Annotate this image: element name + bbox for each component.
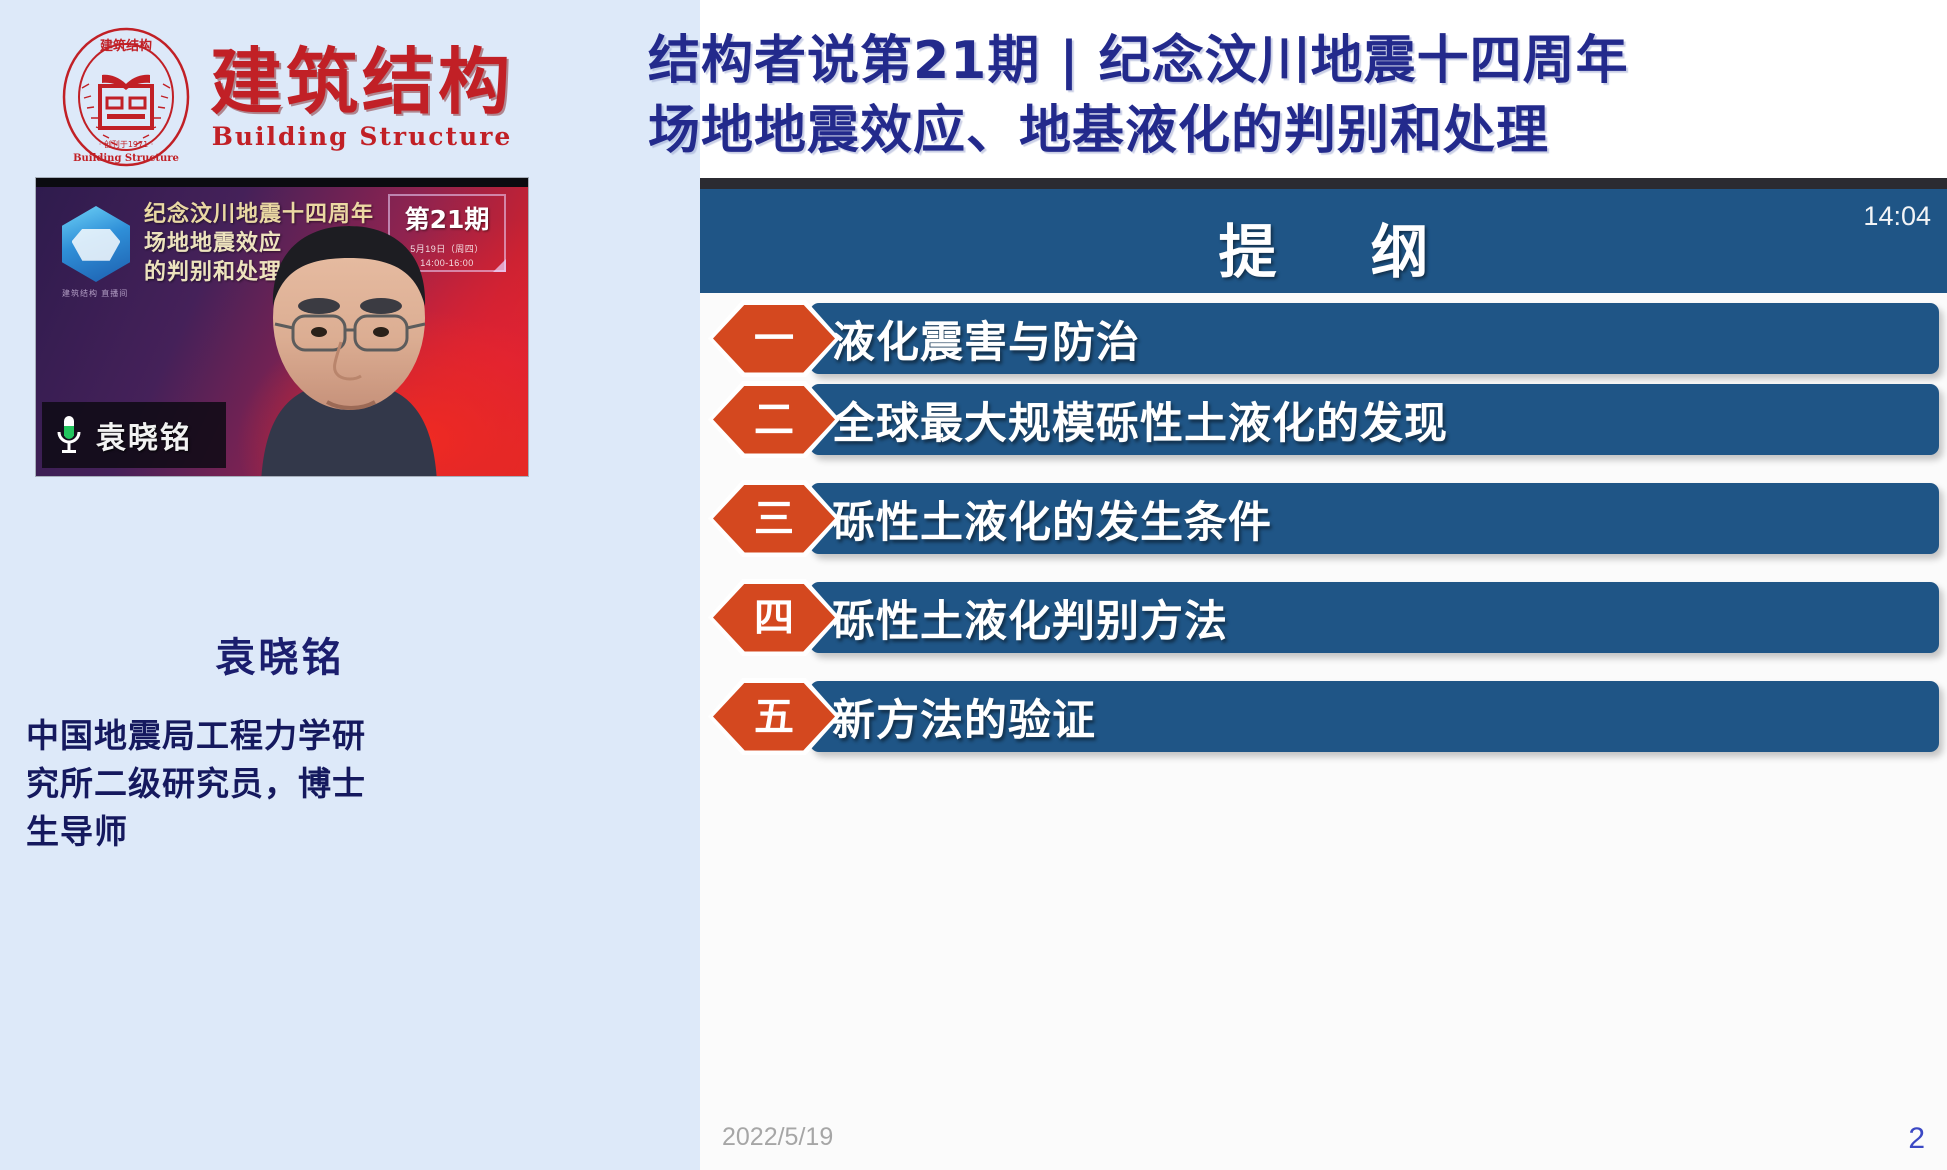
slide-footer-date: 2022/5/19 [722, 1123, 833, 1152]
participant-name-badge: 袁晓铭 [42, 402, 226, 468]
event-banner-logo-caption: 建筑结构 直播间 [62, 288, 158, 299]
outline-item-5-bar: 新方法的验证 [810, 681, 1939, 752]
speaker-bio-line2: 究所二级研究员，博士 [26, 760, 446, 808]
outline-item-3-number: 三 [754, 499, 794, 539]
outline-item-4-number: 四 [754, 598, 794, 638]
brand-name-en: Building Structure [212, 124, 513, 149]
outline-item-5-number: 五 [754, 697, 794, 737]
building-structure-seal-icon: 建筑结构 · 创刊于1971 · Building Structure [60, 26, 192, 168]
microphone-icon [54, 414, 84, 456]
page-title: 结构者说第21期 | 纪念汶川地震十四周年 场地地震效应、地基液化的判别和处理 [648, 26, 1938, 166]
speaker-bio-line1: 中国地震局工程力学研 [26, 712, 446, 760]
outline-item-2-label: 全球最大规模砾性土液化的发现 [810, 389, 1448, 451]
left-info-panel: 建筑结构 · 创刊于1971 · Building Structure 建筑结构… [0, 0, 700, 1170]
speaker-video-tile[interactable]: 建筑结构 直播间 纪念汶川地震十四周年 场地地震效应 的判别和处理 第21期 5… [36, 178, 528, 476]
outline-item-3-bar: 砾性土液化的发生条件 [810, 483, 1939, 554]
svg-text:建筑结构: 建筑结构 [100, 38, 152, 54]
outline-item-2-bar: 全球最大规模砾性土液化的发现 [810, 384, 1939, 455]
outline-item-5[interactable]: 新方法的验证 五 [700, 681, 1947, 752]
svg-text:Building Structure: Building Structure [73, 153, 179, 164]
outline-item-1[interactable]: 液化震害与防治 一 [700, 303, 1947, 374]
svg-text:· 创刊于1971 ·: · 创刊于1971 · [99, 139, 154, 149]
outline-item-1-number: 一 [754, 319, 794, 359]
outline-item-2[interactable]: 全球最大规模砾性土液化的发现 二 [700, 384, 1947, 455]
brand-header: 建筑结构 · 创刊于1971 · Building Structure 建筑结构… [60, 22, 660, 172]
screen-root: 建筑结构 · 创刊于1971 · Building Structure 建筑结构… [0, 0, 1947, 1170]
outline-item-2-number: 二 [754, 400, 794, 440]
presentation-slide[interactable]: 提 纲 14:04 液化震害与防治 一 全球最大规模砾性土液化的发现 [700, 178, 1947, 1170]
speaker-portrait [231, 210, 467, 476]
clock-overlay: 14:04 [1863, 201, 1931, 232]
event-banner-logo-icon: 建筑结构 直播间 [62, 206, 136, 290]
page-title-line2: 场地地震效应、地基液化的判别和处理 [648, 96, 1938, 166]
speaker-bio-line3: 生导师 [26, 808, 446, 856]
speaker-name: 袁晓铭 [0, 625, 560, 683]
outline-item-4[interactable]: 砾性土液化判别方法 四 [700, 582, 1947, 653]
brand-wordmark: 建筑结构 Building Structure [210, 46, 514, 149]
slide-heading: 提 纲 [700, 205, 1947, 289]
speaker-bio: 中国地震局工程力学研 究所二级研究员，博士 生导师 [26, 712, 446, 856]
video-top-strip [36, 178, 528, 187]
participant-name: 袁晓铭 [96, 413, 192, 457]
slide-top-strip [700, 178, 1947, 189]
outline-item-1-label: 液化震害与防治 [810, 308, 1140, 370]
outline-item-5-label: 新方法的验证 [810, 686, 1096, 748]
page-title-line1: 结构者说第21期 | 纪念汶川地震十四周年 [648, 26, 1938, 96]
outline-item-1-bar: 液化震害与防治 [810, 303, 1939, 374]
outline-item-4-bar: 砾性土液化判别方法 [810, 582, 1939, 653]
slide-header-band: 提 纲 14:04 [700, 189, 1947, 293]
outline-item-3[interactable]: 砾性土液化的发生条件 三 [700, 483, 1947, 554]
outline-item-3-label: 砾性土液化的发生条件 [810, 488, 1272, 550]
outline-list: 液化震害与防治 一 全球最大规模砾性土液化的发现 二 [700, 303, 1947, 762]
outline-item-4-label: 砾性土液化判别方法 [810, 587, 1228, 649]
brand-name-cn: 建筑结构 [210, 46, 514, 118]
slide-page-number: 2 [1908, 1122, 1925, 1156]
